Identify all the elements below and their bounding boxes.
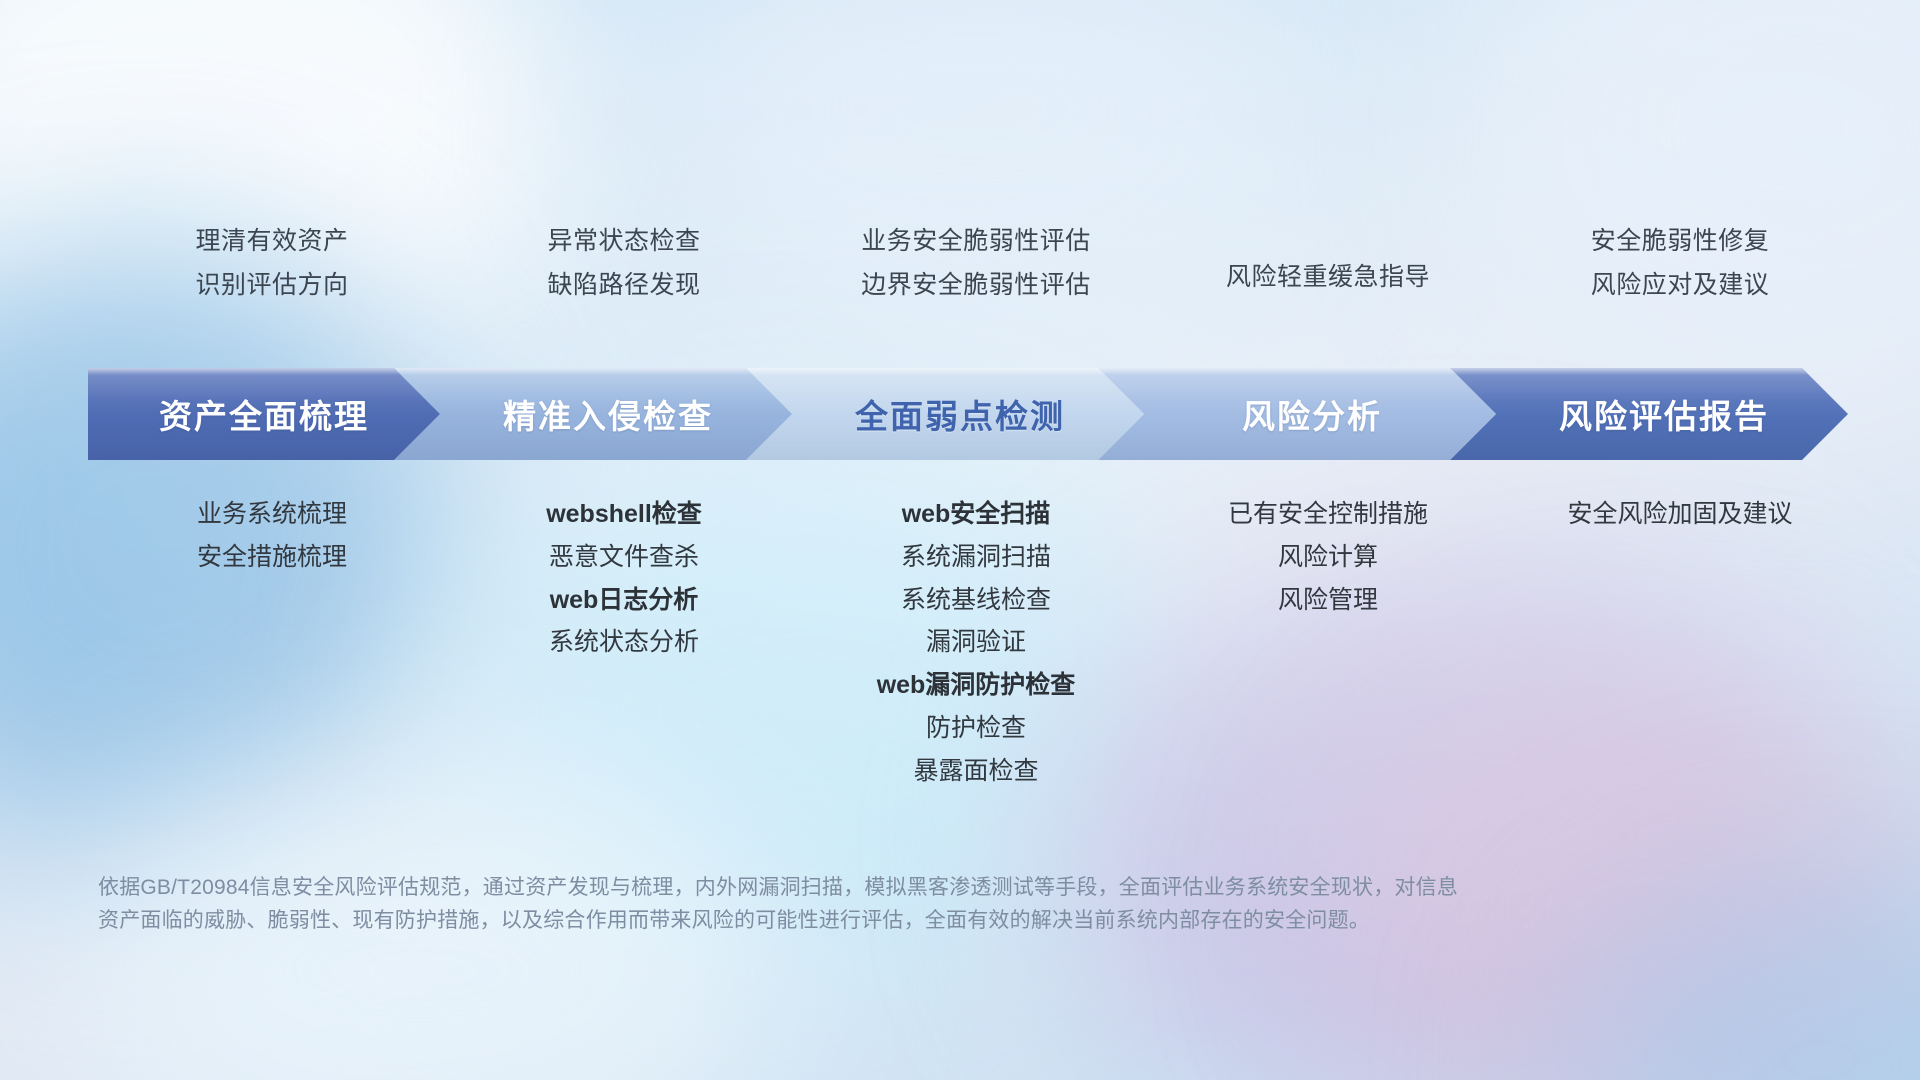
bottom-note: 风险管理 (1278, 586, 1378, 615)
process-step-label: 精准入侵检查 (473, 390, 713, 438)
top-note: 安全脆弱性修复 (1591, 228, 1770, 256)
footer-line-2: 资产面临的威胁、脆弱性、现有防护措施，以及综合作用而带来风险的可能性进行评估，全… (98, 905, 1628, 938)
bottom-notes-asset-inventory: 业务系统梳理 安全措施梳理 (96, 500, 448, 785)
process-step-risk-analysis[interactable]: 风险分析 (1098, 368, 1496, 460)
top-notes-weakness-detection: 业务安全脆弱性评估 边界安全脆弱性评估 (800, 228, 1152, 299)
process-step-asset-inventory[interactable]: 资产全面梳理 (88, 368, 440, 460)
footer-line-1: 依据GB/T20984信息安全风险评估规范，通过资产发现与梳理，内外网漏洞扫描，… (98, 872, 1628, 905)
top-notes-asset-inventory: 理清有效资产 识别评估方向 (96, 228, 448, 299)
bottom-note: web安全扫描 (902, 500, 1051, 529)
top-note: 边界安全脆弱性评估 (861, 272, 1091, 300)
bottom-note: 安全措施梳理 (197, 543, 347, 572)
process-step-label: 风险分析 (1212, 390, 1382, 438)
process-step-intrusion-check[interactable]: 精准入侵检查 (394, 368, 792, 460)
top-notes-intrusion-check: 异常状态检查 缺陷路径发现 (448, 228, 800, 299)
bottom-note: web日志分析 (550, 586, 699, 615)
process-step-label: 风险评估报告 (1529, 390, 1769, 438)
top-note: 识别评估方向 (195, 272, 348, 300)
bottom-note: 系统基线检查 (901, 586, 1051, 615)
process-step-assessment-report[interactable]: 风险评估报告 (1450, 368, 1848, 460)
top-notes-row: 理清有效资产 识别评估方向 异常状态检查 缺陷路径发现 业务安全脆弱性评估 边界… (96, 228, 1856, 299)
top-notes-assessment-report: 安全脆弱性修复 风险应对及建议 (1504, 228, 1856, 299)
bottom-notes-assessment-report: 安全风险加固及建议 (1504, 500, 1856, 785)
bottom-note: 恶意文件查杀 (549, 543, 699, 572)
top-note: 风险应对及建议 (1591, 272, 1770, 300)
bottom-note: web漏洞防护检查 (877, 671, 1076, 700)
process-step-weakness-detection[interactable]: 全面弱点检测 (746, 368, 1144, 460)
top-note: 异常状态检查 (547, 228, 700, 256)
top-note: 风险轻重缓急指导 (1226, 264, 1430, 292)
bottom-note: 系统漏洞扫描 (901, 543, 1051, 572)
bottom-note: 已有安全控制措施 (1228, 500, 1428, 529)
process-step-label: 资产全面梳理 (159, 390, 369, 438)
bottom-note: webshell检查 (546, 500, 702, 529)
process-step-label: 全面弱点检测 (825, 390, 1065, 438)
bottom-note: 暴露面检查 (913, 757, 1038, 786)
bottom-notes-weakness-detection: web安全扫描 系统漏洞扫描 系统基线检查 漏洞验证 web漏洞防护检查 防护检… (800, 500, 1152, 785)
bottom-note: 防护检查 (926, 714, 1026, 743)
bottom-notes-intrusion-check: webshell检查 恶意文件查杀 web日志分析 系统状态分析 (448, 500, 800, 785)
top-notes-risk-analysis: 风险轻重缓急指导 (1152, 228, 1504, 299)
bottom-note: 业务系统梳理 (197, 500, 347, 529)
bottom-note: 系统状态分析 (549, 628, 699, 657)
bottom-note: 漏洞验证 (926, 628, 1026, 657)
bottom-note: 安全风险加固及建议 (1567, 500, 1792, 529)
top-note: 缺陷路径发现 (547, 272, 700, 300)
bottom-notes-row: 业务系统梳理 安全措施梳理 webshell检查 恶意文件查杀 web日志分析 … (96, 500, 1856, 785)
bottom-notes-risk-analysis: 已有安全控制措施 风险计算 风险管理 (1152, 500, 1504, 785)
footer-description: 依据GB/T20984信息安全风险评估规范，通过资产发现与梳理，内外网漏洞扫描，… (98, 872, 1628, 937)
process-arrow-band: 资产全面梳理 精准入侵检查 全面弱点检测 风险分析 (88, 368, 1848, 460)
slide-canvas: 理清有效资产 识别评估方向 异常状态检查 缺陷路径发现 业务安全脆弱性评估 边界… (0, 0, 1920, 1080)
top-note: 理清有效资产 (195, 228, 348, 256)
top-note: 业务安全脆弱性评估 (861, 228, 1091, 256)
bottom-note: 风险计算 (1278, 543, 1378, 572)
